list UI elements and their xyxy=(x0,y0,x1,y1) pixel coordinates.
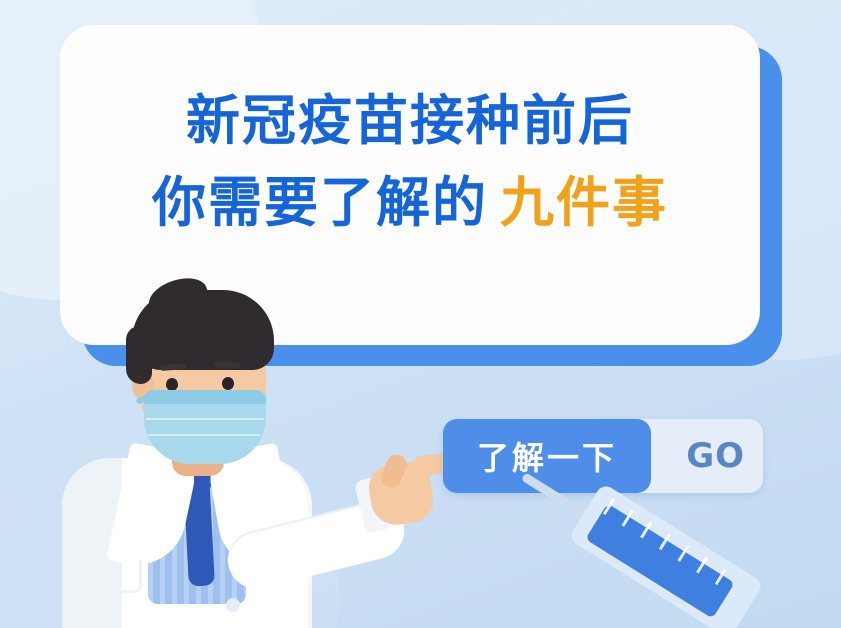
eyebrow-right xyxy=(214,361,240,368)
headline-line-1: 新冠疫苗接种前后 xyxy=(60,87,760,155)
headline-line-2: 你需要了解的九件事 xyxy=(60,169,760,237)
hair-sideburn xyxy=(126,326,152,384)
headline-block: 新冠疫苗接种前后 你需要了解的九件事 xyxy=(60,87,760,236)
coat-pocket xyxy=(84,560,142,593)
poster-canvas: 新冠疫苗接种前后 你需要了解的九件事 xyxy=(0,0,841,628)
face-mask-top-edge xyxy=(144,390,266,404)
coat-button-upper xyxy=(226,598,240,612)
face-mask-fold-upper xyxy=(146,418,264,420)
headline-line-2-primary: 你需要了解的 xyxy=(152,171,488,234)
headline-line-2-accent: 九件事 xyxy=(500,171,668,234)
doctor-illustration xyxy=(40,278,460,628)
syringe-illustration xyxy=(511,468,811,628)
face-mask-fold-lower xyxy=(148,434,260,436)
eye-right xyxy=(222,377,234,390)
